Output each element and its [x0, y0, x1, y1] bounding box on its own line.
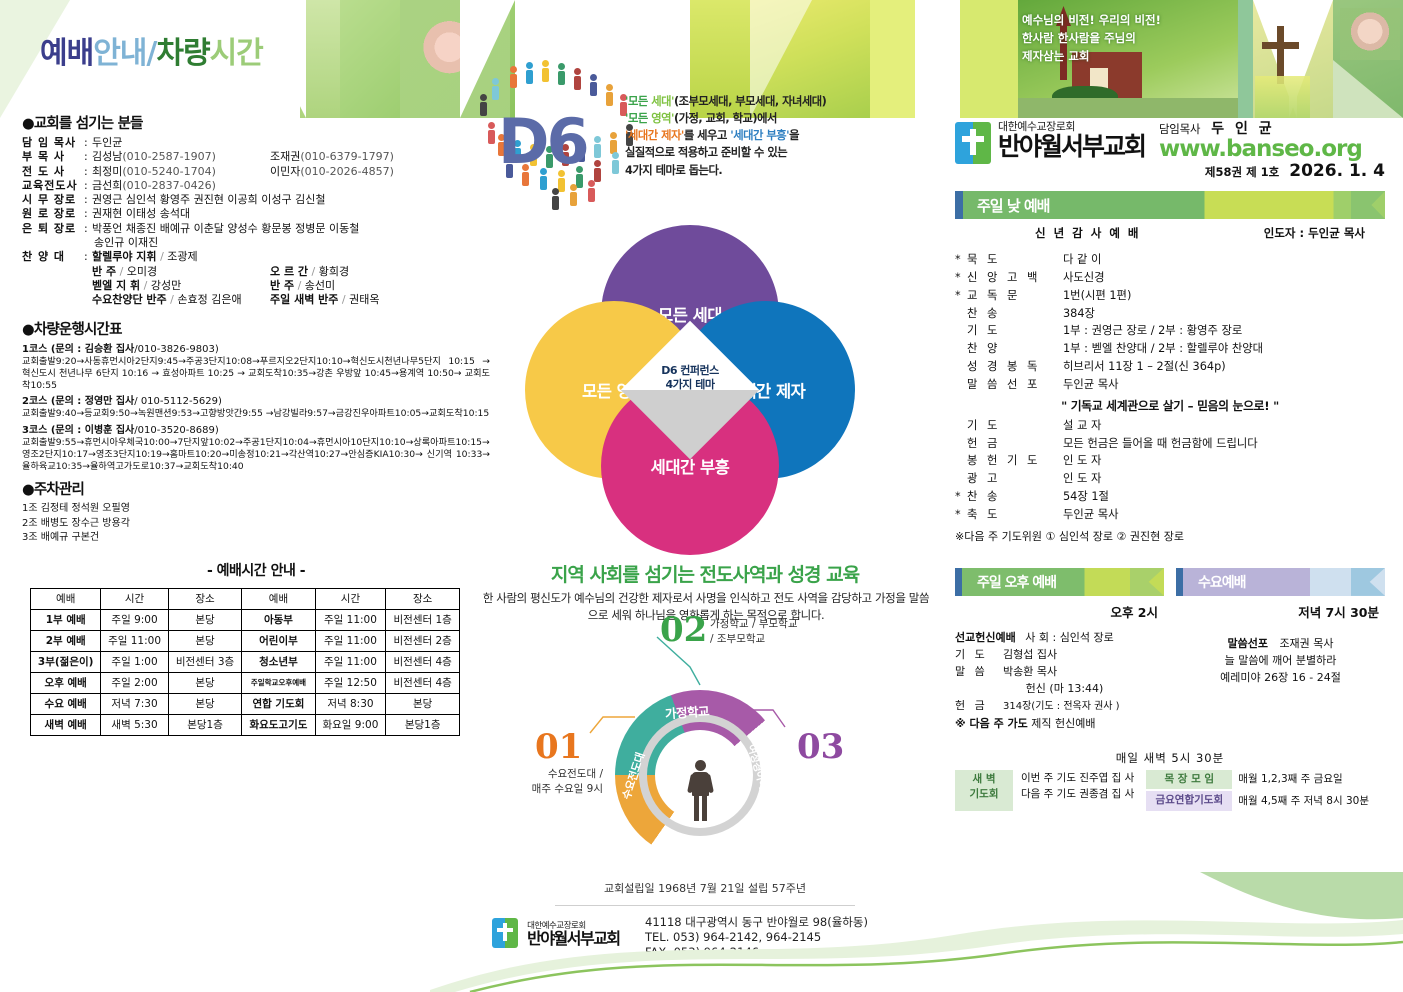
footer-address-line-1: 41118 대구광역시 동구 반야월로 98(율하동) [645, 915, 868, 930]
vision-line-1: 예수님의 비전! 우리의 비전! [1022, 12, 1262, 30]
worship-order-part1: *묵 도다 같 이*신 앙 고 백사도신경*교 독 문1번(시편 1편)찬 송3… [955, 251, 1385, 394]
worship-table-cell: 새벽 예배 [31, 714, 101, 735]
church-logo-mark [492, 918, 518, 948]
sunday-leader-name: 두인균 목사 [1308, 226, 1365, 240]
ministry-text-02: 가정학교 / 부모학교 / 조부모학교 [710, 617, 860, 646]
table-row: 1부 예배주일 9:00본당아동부주일 11:00비전센터 1층 [31, 609, 460, 630]
worship-order-row: 성 경 봉 독히브리서 11장 1 – 2절(신 364p) [955, 358, 1385, 376]
person-icon-body [552, 196, 559, 210]
person-icon [558, 63, 565, 70]
staff-row: 원 로 장로:권재현 이태성 송석대 [22, 207, 490, 221]
person-icon-body [492, 86, 499, 100]
d6-description: '모든 세대'(조부모세대, 부모세대, 자녀세대)'모든 영역'(가정, 교회… [625, 93, 925, 179]
person-icon [542, 60, 549, 67]
worship-order-row: *찬 송54장 1절 [955, 488, 1385, 506]
table-row: 수요 예배저녁 7:30본당연합 기도회저녁 8:30본당 [31, 693, 460, 714]
sermon-title: " 기독교 세계관으로 살기 – 믿음의 눈으로! " [955, 397, 1385, 414]
worship-order-row: 기 도설 교 자 [955, 417, 1385, 435]
person-icon [594, 136, 601, 143]
person-icon [610, 132, 617, 139]
person-icon [488, 122, 495, 129]
worship-table-cell: 저녁 7:30 [101, 693, 168, 714]
afternoon-service-body: 선교헌신예배 사 회 : 심인석 장로 기 도김형섭 집사 말 씀박송환 목사 … [955, 629, 1164, 732]
sunday-service-bar: 주일 낮 예배 [955, 191, 1385, 219]
staff-row: 부 목 사:김성남(010-2587-1907)조재권(010-6379-179… [22, 150, 490, 164]
wednesday-scripture: 예레미야 26장 16 - 24절 [1176, 669, 1385, 686]
afternoon-service-bar: 주일 오후 예배 [955, 568, 1164, 596]
parking-row: 2조 배병도 장수근 방용각 [22, 517, 490, 532]
afternoon-host-label: 사 회 : [1025, 631, 1056, 644]
wednesday-service-body: 말씀선포 조재권 목사 늘 말씀에 깨어 분별하라 예레미야 26장 16 - … [1176, 635, 1385, 686]
person-icon [594, 160, 601, 167]
afternoon-service-box: 주일 오후 예배 오후 2시 선교헌신예배 사 회 : 심인석 장로 기 도김형… [955, 558, 1164, 732]
person-icon [570, 184, 577, 191]
afternoon-next-label: ※ 다음 주 가도 [955, 717, 1028, 730]
afternoon-offering-key: 헌 금 [955, 697, 1003, 714]
worship-table-cell: 연합 기도회 [242, 693, 315, 714]
footer-logo: 대한예수교장로회 반야월서부교회 [492, 918, 642, 948]
person-icon-body [510, 74, 517, 88]
d6-description-line: 4가지 테마로 돕는다. [625, 162, 925, 179]
worship-order-row: 찬 송384장 [955, 305, 1385, 323]
person-icon [606, 84, 613, 91]
worship-table-cell: 비전센터 4층 [386, 651, 460, 672]
person-icon-body [542, 68, 549, 82]
person-icon-body [612, 160, 619, 174]
staff-row: 담 임 목사:두인균 [22, 136, 490, 150]
vision-statement: 예수님의 비전! 우리의 비전! 한사람 한사람을 주님의 제자삼는 교회 [1022, 12, 1262, 65]
page-title: 예배안내/차량시간 [40, 28, 263, 72]
table-row: 3부(젊은이)주일 1:00비전센터 3층청소년부주일 11:00비전센터 4층 [31, 651, 460, 672]
person-icon [492, 78, 499, 85]
worship-table-cell: 주일 9:00 [101, 609, 168, 630]
person-icon-body [590, 82, 597, 96]
person-icon [526, 62, 533, 69]
afternoon-service-time: 오후 2시 [955, 602, 1158, 621]
person-icon-body [574, 76, 581, 90]
worship-table-cell: 본당 [386, 693, 460, 714]
choir-row: 찬 양 대:할렐루야 지휘 / 조광제 [22, 250, 490, 264]
bus-course-route: 교회출발9:20→사동휴먼시아2단지9:45→주공3단지10:08→푸르지오2단… [22, 356, 490, 392]
sunday-service-bar-label: 주일 낮 예배 [955, 195, 1049, 216]
wednesday-preach-value: 조재권 목사 [1279, 637, 1333, 650]
worship-table-cell: 화요일 9:00 [315, 714, 386, 735]
person-icon-body [558, 71, 565, 85]
footer-address-line-2: TEL. 053) 964-2142, 964-2145 [645, 930, 868, 945]
friday-prayer-tag: 금요연합기도회 [1146, 791, 1232, 811]
wednesday-service-time: 저녁 7시 30분 [1176, 602, 1379, 621]
cell-meeting-schedule: 매월 1,2,3째 주 금요일 [1238, 771, 1342, 788]
staff-row: 시 무 장로:권영근 심인석 황영주 권진현 이공희 이성구 김신철 [22, 193, 490, 207]
page-title-part-2: 안내/ [93, 36, 156, 71]
afternoon-row-0-value: 김형섭 집사 [1003, 648, 1057, 661]
worship-order-row: *교 독 문1번(시편 1편) [955, 287, 1385, 305]
person-icon-body [594, 168, 601, 182]
person-icon [590, 74, 597, 81]
venn-center-label: D6 컨퍼런스 4가지 테마 [641, 364, 739, 392]
mission-heading: 지역 사회를 섬기는 전도사역과 성경 교육 [470, 560, 940, 587]
person-icon-body [480, 102, 487, 116]
worship-table-header-cell: 장소 [386, 588, 460, 609]
worship-table-cell: 저녁 8:30 [315, 693, 386, 714]
choir-row: 반 주 / 오미경오 르 간 / 황희경 [22, 265, 490, 279]
pastor-name: 두 인 균 [1211, 121, 1274, 137]
dawn-prayer-row-2: 다음 주 기도 권종겸 집 사 [1021, 786, 1134, 803]
afternoon-row-1-value: 박송환 목사 [1003, 665, 1057, 678]
worship-order-row: *묵 도다 같 이 [955, 251, 1385, 269]
church-name: 반야월서부교회 [998, 134, 1145, 159]
footer-divider [555, 905, 855, 906]
worship-order-row: 헌 금모든 헌금은 들어올 때 헌금함에 드립니다 [955, 435, 1385, 453]
issue-info: 제58권 제 1호 2026. 1. 4 [1159, 161, 1385, 181]
establishment-date: 교회설립일 1968년 7월 21일 설립 57주년 [470, 880, 940, 896]
church-masthead: 대한예수교장로회 반야월서부교회 담임목사 두 인 균 www.banseo.o… [955, 118, 1385, 181]
worship-table-header-cell: 예배 [242, 588, 315, 609]
issue-date: 2026. 1. 4 [1289, 161, 1385, 181]
dawn-prayer-grid: 새 벽 기도회 이번 주 기도 진주엽 집 사 다음 주 기도 권종겸 집 사 … [955, 770, 1385, 812]
afternoon-host-name: 심인석 장로 [1060, 631, 1114, 644]
worship-table-header-row: 예배시간장소예배시간장소 [31, 588, 460, 609]
worship-table-cell: 본당1층 [168, 714, 242, 735]
person-icon-body [594, 144, 601, 158]
person-icon-body [588, 188, 595, 202]
worship-table-cell: 본당 [168, 672, 242, 693]
worship-table-cell: 주일 1:00 [101, 651, 168, 672]
wednesday-service-bar-label: 수요예배 [1176, 572, 1246, 592]
worship-order-part2: 기 도설 교 자헌 금모든 헌금은 들어올 때 헌금함에 드립니다봉 헌 기 도… [955, 417, 1385, 524]
worship-table-cell: 새벽 5:30 [101, 714, 168, 735]
worship-table-header-cell: 예배 [31, 588, 101, 609]
staff-heading: ●교회를 섬기는 분들 [22, 112, 490, 133]
worship-table-cell: 수요 예배 [31, 693, 101, 714]
dawn-prayer-tag: 새 벽 기도회 [955, 770, 1013, 812]
wednesday-service-bar: 수요예배 [1176, 568, 1385, 596]
worship-table-cell: 본당 [168, 630, 242, 651]
d6-description-line: '세대간 제자'를 세우고 '세대간 부흥'을 [625, 127, 925, 144]
worship-order-row: 기 도1부 : 권영근 장로 / 2부 : 황영주 장로 [955, 322, 1385, 340]
issue-number: 제58권 제 1호 [1205, 165, 1279, 179]
next-week-prayer-committee: ※다음 주 기도위원 ① 심인석 장로 ② 권진현 장로 [955, 528, 1385, 544]
worship-time-table: 예배시간장소예배시간장소 1부 예배주일 9:00본당아동부주일 11:00비전… [30, 588, 460, 736]
worship-table-cell: 본당1층 [386, 714, 460, 735]
worship-table-header-cell: 시간 [315, 588, 386, 609]
person-icon-body [488, 130, 495, 144]
page-title-part-3: 차량 [156, 36, 209, 71]
footer-church-name: 반야월서부교회 [527, 931, 620, 947]
person-icon-body [540, 176, 547, 190]
worship-table-cell: 주일 11:00 [315, 630, 386, 651]
right-column: 대한예수교장로회 반야월서부교회 담임목사 두 인 균 www.banseo.o… [955, 118, 1385, 811]
choir-row: 수요찬양단 반주 / 손효정 김은애주일 새벽 반주 / 권태옥 [22, 293, 490, 307]
left-column: ●교회를 섬기는 분들 담 임 목사:두인균부 목 사:김성남(010-2587… [22, 112, 490, 736]
wednesday-preach-key: 말씀선포 [1227, 637, 1267, 650]
worship-table-cell: 1부 예배 [31, 609, 101, 630]
worship-table-header-cell: 시간 [101, 588, 168, 609]
page-title-part-1: 예배 [40, 36, 93, 71]
website-url: www.banseo.org [1159, 138, 1385, 161]
bus-course-title: 3코스 (문의 : 이병훈 집사/010-3520-8689) [22, 424, 490, 437]
worship-table-cell: 주일 2:00 [101, 672, 168, 693]
parking-row: 3조 배예규 구본건 [22, 531, 490, 546]
sunday-service-subhead: 신 년 감 사 예 배 인도자 : 두인균 목사 [955, 225, 1385, 241]
worship-table-cell: 비전센터 3층 [168, 651, 242, 672]
d6-description-line: '모든 세대'(조부모세대, 부모세대, 자녀세대) [625, 93, 925, 110]
person-icon [588, 180, 595, 187]
d6-description-line: 실질적으로 적용하고 준비할 수 있는 [625, 144, 925, 161]
friday-prayer-schedule: 매월 4,5째 주 저녁 8시 30분 [1238, 793, 1369, 810]
person-icon [480, 94, 487, 101]
sunday-leader-label: 인도자 : [1264, 226, 1304, 240]
bus-schedule-heading: ●차량운행시간표 [22, 318, 490, 339]
worship-table-cell: 2부 예배 [31, 630, 101, 651]
table-row: 새벽 예배새벽 5:30본당1층화요도고기도화요일 9:00본당1층 [31, 714, 460, 735]
venn-center-line-2: 4가지 테마 [641, 378, 739, 392]
vision-line-2: 한사람 한사람을 주님의 [1022, 30, 1262, 48]
bus-course-title: 1코스 (문의 : 김승환 집사/010-3826-9803) [22, 343, 490, 356]
wednesday-sermon-title: 늘 말씀에 깨어 분별하라 [1176, 652, 1385, 669]
worship-table-header-cell: 장소 [168, 588, 242, 609]
person-icon [574, 68, 581, 75]
worship-table-cell: 주일 11:00 [315, 609, 386, 630]
dawn-prayer-row-1: 이번 주 기도 진주엽 집 사 [1021, 770, 1134, 787]
staff-row: 전 도 사:최정미(010-5240-1704)이민자(010-2026-485… [22, 165, 490, 179]
sunday-service-subtitle: 신 년 감 사 예 배 [1035, 225, 1141, 241]
staff-row: 교육전도사:금선희(010-2837-0426) [22, 179, 490, 193]
worship-table-cell: 청소년부 [242, 651, 315, 672]
worship-table-cell: 비전센터 4층 [386, 672, 460, 693]
person-icon [510, 66, 517, 73]
worship-table-cell: 주일 12:50 [315, 672, 386, 693]
worship-table-cell: 본당 [168, 609, 242, 630]
worship-table-cell: 오후 예배 [31, 672, 101, 693]
ministry-number-02: 02 [660, 610, 707, 650]
worship-order-row: 말 씀 선 포두인균 목사 [955, 376, 1385, 394]
worship-order-row: 봉 헌 기 도인 도 자 [955, 452, 1385, 470]
afternoon-dedication-line: 헌신 (마 13:44) [955, 680, 1164, 697]
person-icon-body [606, 92, 613, 106]
person-icon-body [558, 178, 565, 192]
d6-logo: D6 [498, 105, 587, 178]
venn-center-line-1: D6 컨퍼런스 [641, 364, 739, 378]
worship-order-row: 광 고인 도 자 [955, 470, 1385, 488]
worship-table-cell: 비전센터 1층 [386, 609, 460, 630]
footer-address-line-3: FAX. 053) 964-2146 [645, 945, 868, 960]
pastor-label: 담임목사 [1159, 122, 1200, 136]
worship-table-cell: 3부(젊은이) [31, 651, 101, 672]
d6-description-line: '모든 영역'(가정, 교회, 학교)에서 [625, 110, 925, 127]
bus-course-title: 2코스 (문의 : 정영만 집사/ 010-5112-5629) [22, 395, 490, 408]
connector-lines [535, 655, 865, 865]
table-row: 2부 예배주일 11:00본당어린이부주일 11:00비전센터 2층 [31, 630, 460, 651]
vision-line-3: 제자삼는 교회 [1022, 48, 1262, 66]
worship-table-title: - 예배시간 안내 - [22, 560, 490, 580]
worship-table-cell: 비전센터 2층 [386, 630, 460, 651]
staff-row-continued: 송인규 이재진 [22, 236, 490, 250]
worship-table-cell: 화요도고기도 [242, 714, 315, 735]
person-icon [612, 152, 619, 159]
ministry-circle-diagram: 가정학교 수요전도대 여성경이야기지 01 02 03 수요전도대 / 매주 수… [535, 655, 865, 865]
bus-course-route: 교회출발9:55→휴먼시아우체국10:00→7단지앞10:02→주공1단지10:… [22, 437, 490, 473]
cell-meeting-tag: 목 장 모 임 [1146, 770, 1232, 790]
page-title-part-4: 시간 [210, 36, 263, 71]
dawn-prayer-rows: 이번 주 기도 진주엽 집 사 다음 주 기도 권종겸 집 사 [1021, 770, 1134, 812]
parking-list: 1조 김정테 정석원 오필영2조 배병도 장수근 방용각3조 배예규 구본건 [22, 502, 490, 546]
person-icon [552, 188, 559, 195]
afternoon-row-1-key: 말 씀 [955, 663, 1003, 680]
person-icon-body [570, 192, 577, 206]
parking-row: 1조 김정테 정석원 오필영 [22, 502, 490, 517]
dawn-prayer-section: 매일 새벽 5시 30분 새 벽 기도회 이번 주 기도 진주엽 집 사 다음 … [955, 750, 1385, 812]
worship-table-cell: 어린이부 [242, 630, 315, 651]
dawn-prayer-title: 매일 새벽 5시 30분 [955, 750, 1385, 766]
bus-schedule-list: 1코스 (문의 : 김승환 집사/010-3826-9803)교회출발9:20→… [22, 343, 490, 474]
staff-list: 담 임 목사:두인균부 목 사:김성남(010-2587-1907)조재권(01… [22, 136, 490, 308]
wednesday-service-box: 수요예배 저녁 7시 30분 말씀선포 조재권 목사 늘 말씀에 깨어 분별하라… [1176, 558, 1385, 732]
d6-venn-diagram: 모든 세대 모든 영역 세대간 제자 세대간 부흥 D6 컨퍼런스 4가지 테마 [525, 225, 855, 555]
table-row: 오후 예배주일 2:00본당주일학교오후예배주일 12:50비전센터 4층 [31, 672, 460, 693]
worship-table-cell: 본당 [168, 693, 242, 714]
afternoon-service-kind: 선교헌신예배 [955, 631, 1016, 644]
worship-table-cell: 주일 11:00 [315, 651, 386, 672]
bus-course-route: 교회출발9:40→등교회9:50→녹원맨션9:53→고향방앗간9:55 →남강빌… [22, 408, 490, 420]
person-icon-body [526, 70, 533, 84]
choir-row: 벧엘 지 휘 / 강성만반 주 / 송선미 [22, 279, 490, 293]
worship-table-cell: 주일학교오후예배 [242, 672, 315, 693]
secondary-services: 주일 오후 예배 오후 2시 선교헌신예배 사 회 : 심인석 장로 기 도김형… [955, 558, 1385, 732]
afternoon-next-value: 제직 헌신예배 [1031, 717, 1095, 730]
worship-order-row: *신 앙 고 백사도신경 [955, 269, 1385, 287]
staff-row: 은 퇴 장로:박풍언 채종진 배예규 이춘달 양성수 황문봉 정병문 이동철 [22, 222, 490, 236]
worship-order-row: *축 도두인균 목사 [955, 506, 1385, 524]
afternoon-row-0-key: 기 도 [955, 646, 1003, 663]
footer-address: 41118 대구광역시 동구 반야월로 98(율하동) TEL. 053) 96… [645, 915, 868, 961]
worship-table-cell: 주일 11:00 [101, 630, 168, 651]
worship-table-cell: 아동부 [242, 609, 315, 630]
afternoon-service-bar-label: 주일 오후 예배 [955, 572, 1056, 592]
afternoon-offering-value: 314장(기도 : 전옥자 권사 ) [1003, 701, 1120, 712]
parking-heading: ●주차관리 [22, 478, 490, 499]
church-logo-mark-large [955, 122, 991, 164]
worship-order-row: 찬 양1부 : 벧엘 찬양대 / 2부 : 할렐루야 찬양대 [955, 340, 1385, 358]
